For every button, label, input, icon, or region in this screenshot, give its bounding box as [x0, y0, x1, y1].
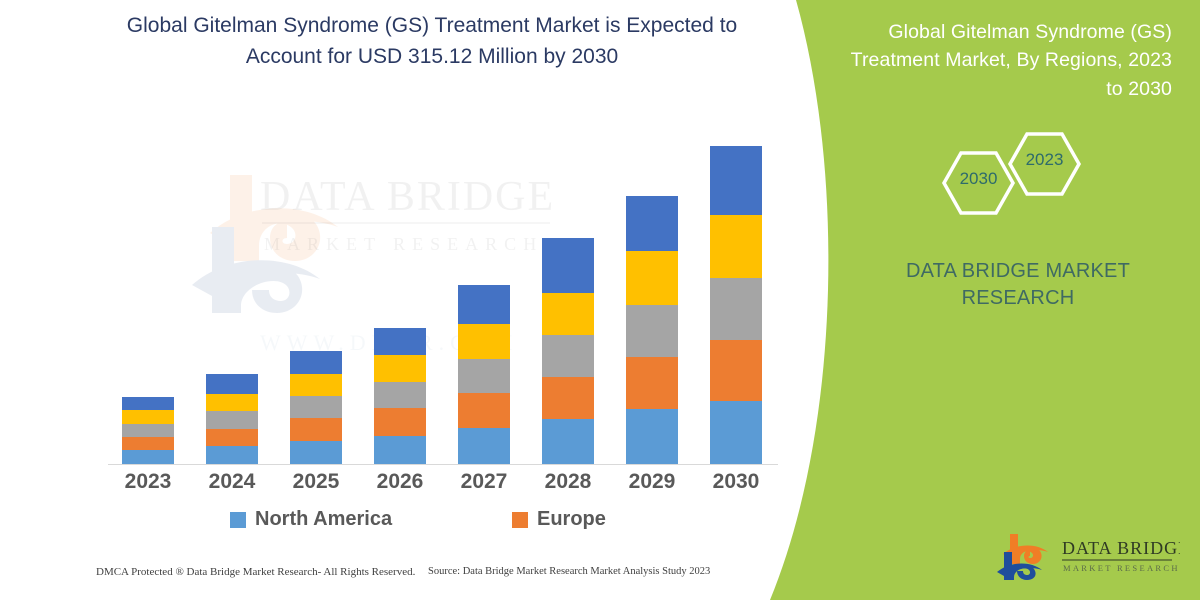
footer-source: Source: Data Bridge Market Research Mark… — [428, 566, 710, 577]
stacked-bar-chart: DATA BRIDGE MARKET RESEARCH WWW.DBMR.COM… — [100, 140, 780, 475]
bar-2029[interactable] — [626, 196, 678, 464]
bar-segment-2030-north-america — [710, 401, 762, 464]
bar-segment-2025-series-3 — [290, 396, 342, 418]
x-label-4: 2027 — [442, 470, 526, 494]
bar-2028[interactable] — [542, 238, 594, 464]
bar-segment-2029-north-america — [626, 409, 678, 464]
bar-segment-2027-north-america — [458, 428, 510, 464]
bar-segment-2026-series-3 — [374, 382, 426, 408]
x-label-0: 2023 — [106, 470, 190, 494]
x-label-7: 2030 — [694, 470, 778, 494]
bar-segment-2026-europe — [374, 408, 426, 435]
bar-2030[interactable] — [710, 146, 762, 464]
logo-name-line2: MARKET RESEARCH — [1063, 563, 1180, 573]
x-axis-labels: 2023 2024 2025 2026 2027 2028 2029 2030 — [100, 470, 780, 504]
panel-brand: DATA BRIDGE MARKET RESEARCH — [868, 258, 1168, 312]
x-label-5: 2028 — [526, 470, 610, 494]
bar-segment-2028-series-5 — [542, 238, 594, 293]
bar-segment-2027-series-3 — [458, 359, 510, 393]
bar-segment-2029-europe — [626, 357, 678, 410]
bar-segment-2023-series-4 — [122, 410, 174, 423]
hexagon-2030-label: 2030 — [944, 169, 1013, 189]
bar-2026[interactable] — [374, 328, 426, 464]
x-label-1: 2024 — [190, 470, 274, 494]
bar-segment-2027-series-5 — [458, 285, 510, 324]
logo-mark-icon — [997, 534, 1048, 580]
legend-item-europe[interactable]: Europe — [512, 508, 606, 531]
legend-swatch-icon-europe — [512, 512, 528, 528]
plot-area — [100, 140, 780, 465]
bar-segment-2025-series-5 — [290, 351, 342, 374]
bar-segment-2028-series-4 — [542, 293, 594, 336]
bar-segment-2027-series-4 — [458, 324, 510, 358]
bar-segment-2029-series-3 — [626, 305, 678, 357]
bar-2024[interactable] — [206, 374, 258, 464]
bar-segment-2030-series-3 — [710, 278, 762, 341]
legend-label-europe: Europe — [537, 508, 606, 531]
legend-label-north-america: North America — [255, 508, 392, 531]
bar-segment-2029-series-4 — [626, 251, 678, 305]
bar-segment-2024-series-4 — [206, 394, 258, 411]
infographic-page: Global Gitelman Syndrome (GS) Treatment … — [0, 0, 1200, 600]
bar-segment-2029-series-5 — [626, 196, 678, 252]
bar-segment-2026-north-america — [374, 436, 426, 464]
bar-segment-2026-series-5 — [374, 328, 426, 354]
panel-brand-line2: RESEARCH — [868, 285, 1168, 312]
bar-segment-2028-europe — [542, 377, 594, 420]
bar-segment-2030-series-4 — [710, 215, 762, 278]
bar-segment-2023-europe — [122, 437, 174, 450]
bar-segment-2024-north-america — [206, 446, 258, 464]
bar-2027[interactable] — [458, 285, 510, 464]
panel-title: Global Gitelman Syndrome (GS) Treatment … — [842, 18, 1172, 103]
bar-2023[interactable] — [122, 397, 174, 464]
bar-2025[interactable] — [290, 351, 342, 464]
bar-segment-2028-north-america — [542, 419, 594, 464]
x-axis-line — [108, 464, 778, 465]
x-label-2: 2025 — [274, 470, 358, 494]
legend-swatch-icon-north-america — [230, 512, 246, 528]
bar-segment-2023-series-3 — [122, 424, 174, 437]
bar-segment-2025-series-4 — [290, 374, 342, 396]
bar-segment-2027-europe — [458, 393, 510, 427]
x-label-3: 2026 — [358, 470, 442, 494]
footer: DMCA Protected ® Data Bridge Market Rese… — [0, 566, 790, 594]
bar-segment-2023-series-5 — [122, 397, 174, 410]
bar-segment-2024-series-5 — [206, 374, 258, 394]
bar-segment-2030-series-5 — [710, 146, 762, 215]
logo-name-line1: DATA BRIDGE — [1062, 538, 1180, 558]
bar-segment-2030-europe — [710, 340, 762, 401]
bar-segment-2024-series-3 — [206, 411, 258, 428]
hexagon-badges: 2030 2023 — [930, 125, 1110, 225]
bar-segment-2026-series-4 — [374, 355, 426, 382]
hexagon-2023-label: 2023 — [1010, 150, 1079, 170]
bar-segment-2024-europe — [206, 429, 258, 446]
legend-item-north-america[interactable]: North America — [230, 508, 392, 531]
chart-legend: North America Europe — [100, 508, 780, 540]
bar-segment-2025-north-america — [290, 441, 342, 464]
panel-brand-line1: DATA BRIDGE MARKET — [868, 258, 1168, 285]
bar-segment-2028-series-3 — [542, 335, 594, 377]
footer-copyright: DMCA Protected ® Data Bridge Market Rese… — [96, 566, 415, 578]
bar-segment-2023-north-america — [122, 450, 174, 464]
page-title: Global Gitelman Syndrome (GS) Treatment … — [112, 10, 752, 72]
x-label-6: 2029 — [610, 470, 694, 494]
bar-segment-2025-europe — [290, 418, 342, 440]
data-bridge-logo: DATA BRIDGE MARKET RESEARCH — [990, 528, 1180, 584]
